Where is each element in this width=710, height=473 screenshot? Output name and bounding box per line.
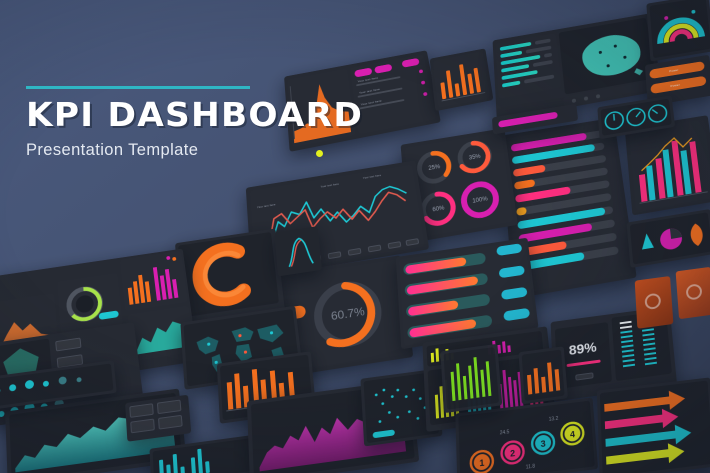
numbered-steps-panel: 1 2 3 4 24.5 13.2 11.8 bbox=[458, 401, 595, 473]
kpi-chip bbox=[158, 415, 183, 430]
step-number-3: 3 bbox=[540, 439, 546, 450]
list-item bbox=[513, 165, 546, 177]
svg-text:60%: 60% bbox=[432, 205, 445, 213]
step-number-4: 4 bbox=[570, 429, 576, 439]
progress-badge[interactable] bbox=[503, 308, 530, 322]
progress-badge[interactable] bbox=[499, 265, 525, 278]
kpi-chip bbox=[130, 419, 155, 434]
donut-4: 100% bbox=[462, 182, 497, 218]
arrow-1 bbox=[604, 389, 686, 418]
accent-dot-yellow bbox=[316, 150, 323, 157]
svg-text:35%: 35% bbox=[469, 154, 481, 162]
teal-curve-icon bbox=[279, 230, 322, 276]
kpi-chip bbox=[129, 403, 153, 418]
arrow-list-panel bbox=[600, 381, 710, 473]
step-number-1: 1 bbox=[479, 458, 484, 469]
gauge-value-text: 60.7% bbox=[331, 306, 366, 323]
slide-green-eq bbox=[440, 344, 502, 413]
page-subtitle: Presentation Template bbox=[26, 141, 276, 160]
progress-bar bbox=[498, 112, 558, 128]
step-caption-2: 13.2 bbox=[549, 416, 559, 423]
kpi-chip bbox=[55, 338, 81, 352]
tab-1[interactable] bbox=[354, 67, 372, 77]
ring-3d-orange-icon bbox=[178, 232, 279, 318]
list-item bbox=[514, 179, 535, 190]
step-caption-3: 11.8 bbox=[526, 463, 536, 470]
kpi-chip bbox=[157, 400, 182, 415]
bullet-dot-1 bbox=[419, 69, 423, 73]
svg-text:25%: 25% bbox=[428, 164, 440, 172]
page-title: KPI DASHBOARD bbox=[26, 98, 286, 131]
power-button-2[interactable]: Power bbox=[650, 76, 706, 94]
svg-text:100%: 100% bbox=[472, 196, 488, 205]
tab-2[interactable] bbox=[374, 64, 392, 74]
title-rule bbox=[26, 86, 250, 89]
donut-3: 60% bbox=[422, 192, 455, 226]
slide-orange-cards bbox=[634, 265, 710, 345]
slide-rainbow-gauge bbox=[646, 0, 710, 62]
title-block: KPI DASHBOARD Presentation Template bbox=[26, 86, 276, 160]
donut-2: 35% bbox=[459, 141, 491, 173]
bar-chart-dual bbox=[629, 119, 710, 210]
progress-badge[interactable] bbox=[501, 287, 528, 300]
arrow-4 bbox=[606, 441, 685, 470]
card-orange-1 bbox=[635, 276, 674, 329]
tab-3[interactable] bbox=[402, 58, 420, 68]
step-number-2: 2 bbox=[510, 448, 516, 459]
bullet-dot-3 bbox=[423, 92, 428, 96]
rainbow-gauge-icon bbox=[649, 0, 710, 56]
slide-orange-bars-top bbox=[430, 48, 494, 111]
progress-badge[interactable] bbox=[496, 243, 522, 256]
pie-shapes-icon bbox=[630, 212, 710, 264]
donut-1: 25% bbox=[418, 151, 450, 183]
slide-teal-curve bbox=[274, 226, 321, 276]
bullet-dot-2 bbox=[421, 80, 425, 84]
slide-orange-mini-bars bbox=[519, 346, 568, 404]
slide-pie-shapes bbox=[626, 209, 710, 268]
arrow-2 bbox=[605, 407, 679, 435]
bar-chart-orange-magenta bbox=[120, 251, 188, 312]
dashboard-collage: Your text here Your text here Your text … bbox=[0, 0, 710, 473]
kpi-underline bbox=[567, 360, 601, 367]
slide-arrow-list bbox=[597, 377, 710, 473]
step-caption-1: 24.5 bbox=[500, 429, 510, 436]
card-orange-2 bbox=[676, 267, 710, 319]
